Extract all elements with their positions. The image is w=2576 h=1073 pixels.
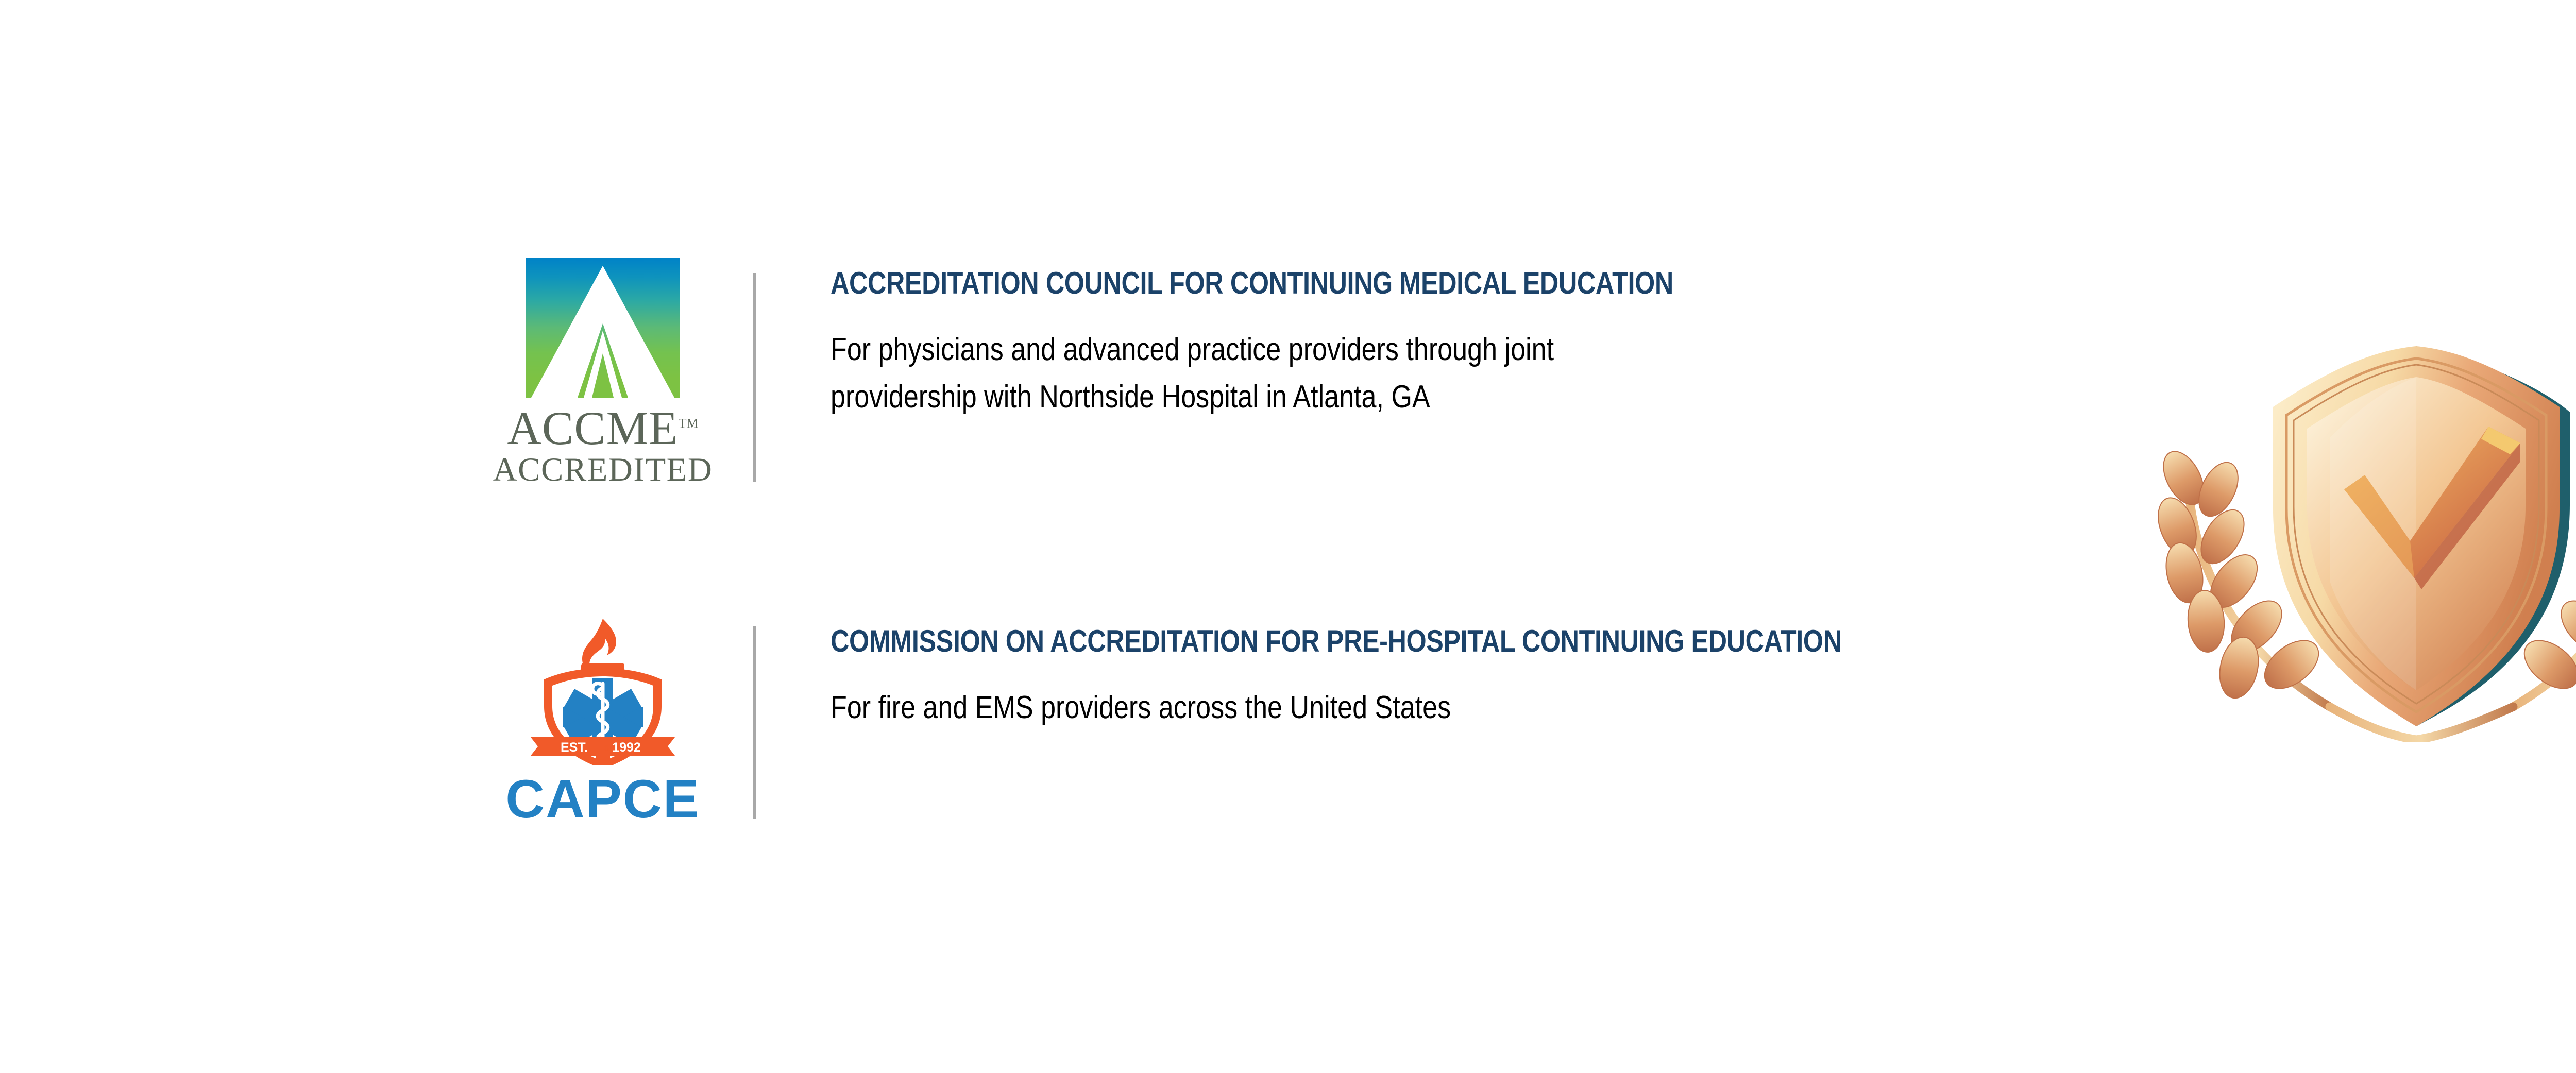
accreditation-row-accme: ACCMETM ACCREDITED ACCREDITATION COUNCIL… xyxy=(495,258,1834,487)
accme-emblem-icon xyxy=(526,258,680,398)
capce-description: For fire and EMS providers across the Un… xyxy=(831,684,1842,731)
capce-text-block: COMMISSION ON ACCREDITATION FOR PRE-HOSP… xyxy=(831,616,2034,731)
accme-wordmark-text: ACCME xyxy=(507,402,678,454)
capce-title: COMMISSION ON ACCREDITATION FOR PRE-HOSP… xyxy=(831,625,1842,657)
capce-emblem-icon: EST. 1992 ® xyxy=(526,616,680,765)
capce-wordmark: CAPCE xyxy=(505,772,700,826)
divider-accme xyxy=(753,273,756,482)
accme-description: For physicians and advanced practice pro… xyxy=(831,326,1673,421)
accme-logo: ACCMETM ACCREDITED xyxy=(495,258,711,487)
accme-description-line-1: For physicians and advanced practice pro… xyxy=(831,326,1673,373)
accme-description-line-2: providership with Northside Hospital in … xyxy=(831,373,1673,421)
capce-logo: EST. 1992 ® CAPCE xyxy=(495,616,711,826)
accme-wordmark: ACCMETM xyxy=(507,405,698,451)
capce-description-line-1: For fire and EMS providers across the Un… xyxy=(831,684,1842,731)
divider-capce xyxy=(753,626,756,819)
capce-registered-mark: ® xyxy=(604,744,609,753)
accreditation-row-capce: EST. 1992 ® CAPCE COMMISSION ON ACCREDIT… xyxy=(495,616,2034,826)
award-shield-checkmark-laurel-icon xyxy=(2128,335,2576,742)
capce-banner-right: 1992 xyxy=(612,740,641,755)
capce-banner-left: EST. xyxy=(561,740,588,755)
page-canvas: ACCMETM ACCREDITED ACCREDITATION COUNCIL… xyxy=(0,0,2576,1073)
accme-accredited-label: ACCREDITED xyxy=(493,452,713,487)
accme-title: ACCREDITATION COUNCIL FOR CONTINUING MED… xyxy=(831,267,1673,299)
accme-text-block: ACCREDITATION COUNCIL FOR CONTINUING MED… xyxy=(831,258,1834,421)
accme-trademark-symbol: TM xyxy=(679,416,699,431)
